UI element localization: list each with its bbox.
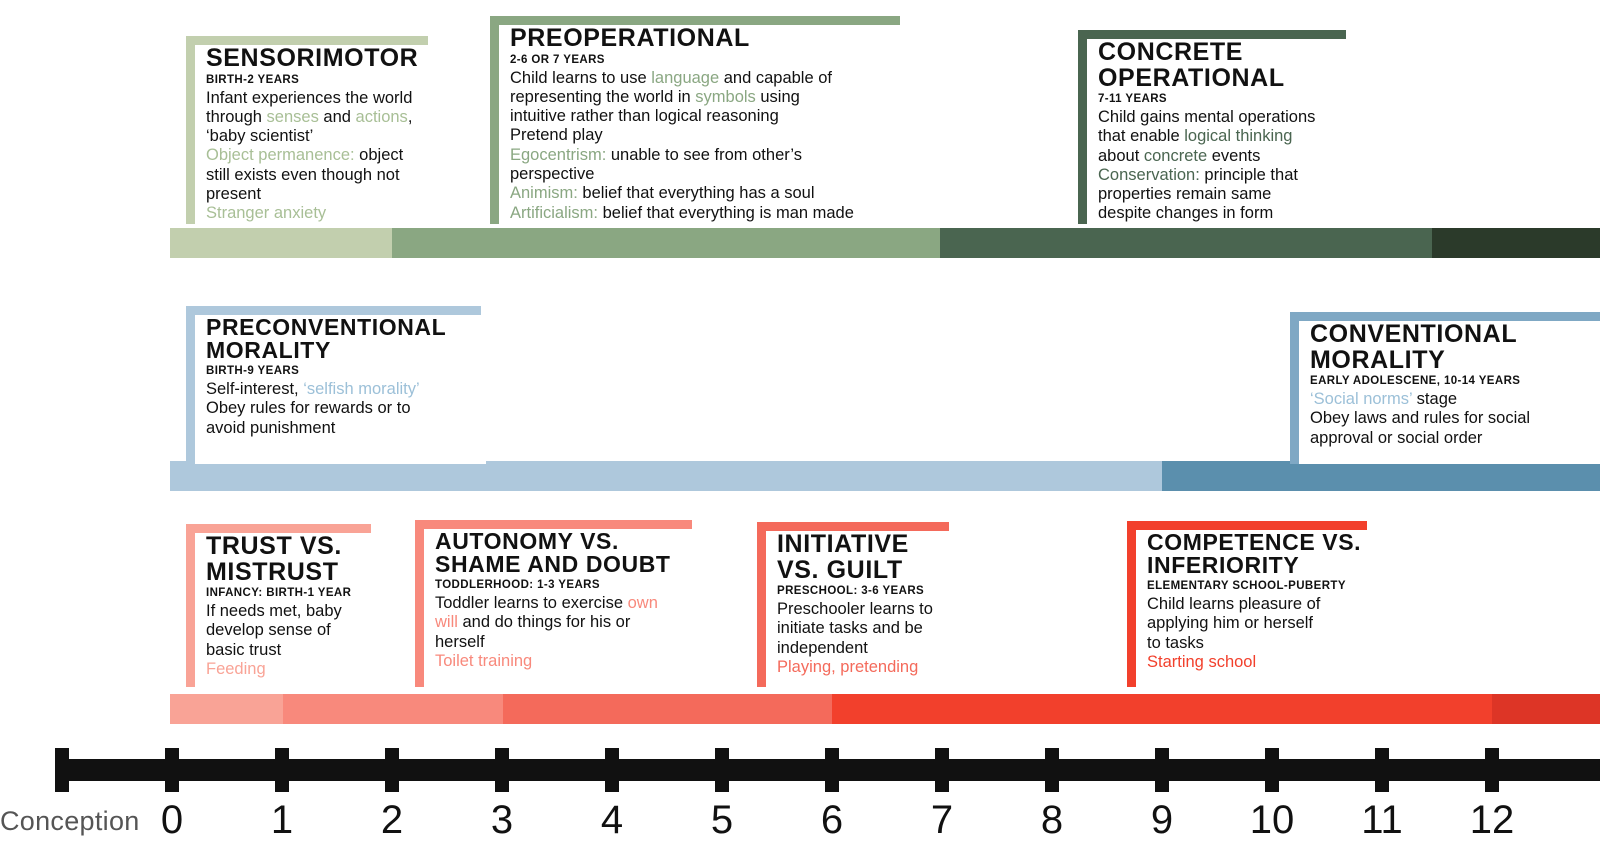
card-age-range: PRESCHOOL: 3-6 YEARS xyxy=(777,585,952,597)
text-segment: , xyxy=(408,108,413,126)
infographic-canvas: SENSORIMOTORBIRTH-2 YEARSInfant experien… xyxy=(0,0,1600,860)
card-description-line: Obey rules for rewards or to xyxy=(206,399,486,418)
text-segment: to tasks xyxy=(1147,634,1204,652)
card-description-line: present xyxy=(206,185,448,204)
card-concrete-operational[interactable]: CONCRETE OPERATIONAL7-11 YEARSChild gain… xyxy=(1078,30,1375,224)
axis-tick-2 xyxy=(385,748,399,792)
card-description-line: Feeding xyxy=(206,660,386,679)
text-segment: actions xyxy=(356,108,408,126)
text-segment: Obey laws and rules for social xyxy=(1310,409,1530,427)
card-description-line: intuitive rather than logical reasoning xyxy=(510,107,915,126)
text-segment: initiate tasks and be xyxy=(777,619,923,637)
identity-band xyxy=(1492,694,1600,724)
text-segment: still exists even though not xyxy=(206,166,400,184)
card-description-line: Toilet training xyxy=(435,652,700,671)
card-autonomy-vs-shame-and-doubt[interactable]: AUTONOMY VS. SHAME AND DOUBTTODDLERHOOD:… xyxy=(415,520,700,687)
card-age-range: 7-11 YEARS xyxy=(1098,93,1375,105)
axis-tick-label-6: 6 xyxy=(792,798,872,843)
text-segment: present xyxy=(206,185,261,203)
card-preoperational[interactable]: PREOPERATIONAL2-6 OR 7 YEARSChild learns… xyxy=(490,16,915,224)
card-description-line: If needs met, baby xyxy=(206,602,386,621)
card-body: AUTONOMY VS. SHAME AND DOUBTTODDLERHOOD:… xyxy=(415,520,700,671)
card-body: INITIATIVE VS. GUILTPRESCHOOL: 3-6 YEARS… xyxy=(757,522,952,677)
card-body: SENSORIMOTORBIRTH-2 YEARSInfant experien… xyxy=(186,36,448,224)
card-description-line: Conservation: principle that xyxy=(1098,166,1375,185)
text-segment: through xyxy=(206,108,267,126)
card-description-line: still exists even though not xyxy=(206,166,448,185)
card-description: If needs met, babydevelop sense ofbasic … xyxy=(206,602,386,679)
preconventional-band xyxy=(170,461,1162,491)
axis-tick-1 xyxy=(275,748,289,792)
text-segment: logical thinking xyxy=(1184,127,1292,145)
card-competence-vs-inferiority[interactable]: COMPETENCE VS. INFERIORITYELEMENTARY SCH… xyxy=(1127,521,1377,687)
axis-tick-label-7: 7 xyxy=(902,798,982,843)
card-description-line: approval or social order xyxy=(1310,429,1600,448)
card-description-line: properties remain same xyxy=(1098,185,1375,204)
card-description-line: about concrete events xyxy=(1098,147,1375,166)
text-segment: ‘Social norms’ xyxy=(1310,390,1412,408)
text-segment: Artificialism: xyxy=(510,204,598,222)
axis-tick-3 xyxy=(495,748,509,792)
card-description-line: ‘baby scientist’ xyxy=(206,127,448,146)
axis-tick-label-11: 11 xyxy=(1342,798,1422,843)
text-segment: using xyxy=(756,88,800,106)
card-description-line: to tasks xyxy=(1147,634,1377,653)
card-description-line: Obey laws and rules for social xyxy=(1310,409,1600,428)
axis-tick-5 xyxy=(715,748,729,792)
card-description: Toddler learns to exercise ownwill and d… xyxy=(435,594,700,671)
card-description-line: representing the world in symbols using xyxy=(510,88,915,107)
text-segment: about xyxy=(1098,147,1144,165)
text-segment: Child learns pleasure of xyxy=(1147,595,1320,613)
text-segment: Toddler learns to exercise xyxy=(435,594,628,612)
card-description-line: ‘Social norms’ stage xyxy=(1310,390,1600,409)
text-segment: ‘baby scientist’ xyxy=(206,127,313,145)
card-description-line: through senses and actions, xyxy=(206,108,448,127)
card-description-line: independent xyxy=(777,639,952,658)
axis-tick-4 xyxy=(605,748,619,792)
text-segment: own xyxy=(628,594,658,612)
card-description-line: develop sense of xyxy=(206,621,386,640)
card-description-line: Animism: belief that everything has a so… xyxy=(510,184,915,203)
text-segment: representing the world in xyxy=(510,88,695,106)
text-segment: unable to see from other’s xyxy=(606,146,802,164)
text-segment: and xyxy=(319,108,356,126)
card-description: Self-interest, ‘selfish morality’Obey ru… xyxy=(206,380,486,438)
axis-tick-label-2: 2 xyxy=(352,798,432,843)
card-description: Infant experiences the worldthrough sens… xyxy=(206,89,448,224)
card-age-range: INFANCY: BIRTH-1 YEAR xyxy=(206,587,386,599)
text-segment: belief that everything has a soul xyxy=(578,184,815,202)
autonomy-band xyxy=(283,694,503,724)
card-description: Child gains mental operationsthat enable… xyxy=(1098,108,1375,224)
text-segment: and capable of xyxy=(719,69,832,87)
card-age-range: EARLY ADOLESCENE, 10-14 YEARS xyxy=(1310,375,1600,387)
text-segment: Conservation: xyxy=(1098,166,1200,184)
card-description-line: Child learns to use language and capable… xyxy=(510,69,915,88)
text-segment: symbols xyxy=(695,88,756,106)
text-segment: Stranger anxiety xyxy=(206,204,326,222)
text-segment: Toilet training xyxy=(435,652,532,670)
card-title: SENSORIMOTOR xyxy=(206,46,448,72)
card-description-line: Stranger anxiety xyxy=(206,204,448,223)
axis-tick-0 xyxy=(165,748,179,792)
card-sensorimotor[interactable]: SENSORIMOTORBIRTH-2 YEARSInfant experien… xyxy=(186,36,448,224)
sensorimotor-band xyxy=(170,228,392,258)
card-age-range: 2-6 OR 7 YEARS xyxy=(510,54,915,66)
card-description-line: basic trust xyxy=(206,641,386,660)
axis-tick-label-5: 5 xyxy=(682,798,762,843)
card-description: Child learns to use language and capable… xyxy=(510,69,915,223)
card-description: Child learns pleasure ofapplying him or … xyxy=(1147,595,1377,672)
card-description-line: Object permanence: object xyxy=(206,146,448,165)
text-segment: basic trust xyxy=(206,641,281,659)
axis-tick-label-1: 1 xyxy=(242,798,322,843)
card-description-line: despite changes in form xyxy=(1098,204,1375,223)
card-title: COMPETENCE VS. INFERIORITY xyxy=(1147,531,1377,578)
competence-band xyxy=(832,694,1492,724)
axis-tick-label-12: 12 xyxy=(1452,798,1532,843)
text-segment: Object permanence: xyxy=(206,146,355,164)
text-segment: Obey rules for rewards or to xyxy=(206,399,411,417)
axis-tick-label-8: 8 xyxy=(1012,798,1092,843)
card-age-range: BIRTH-2 YEARS xyxy=(206,74,448,86)
text-segment: Infant experiences the world xyxy=(206,89,412,107)
card-body: TRUST VS. MISTRUSTINFANCY: BIRTH-1 YEARI… xyxy=(186,524,386,679)
text-segment: that enable xyxy=(1098,127,1184,145)
text-segment: and do things for his or xyxy=(458,613,630,631)
text-segment: avoid punishment xyxy=(206,419,335,437)
card-description-line: Child learns pleasure of xyxy=(1147,595,1377,614)
card-body: CONVENTIONAL MORALITYEARLY ADOLESCENE, 1… xyxy=(1290,312,1600,448)
card-description-line: applying him or herself xyxy=(1147,614,1377,633)
text-segment: Playing, pretending xyxy=(777,658,918,676)
text-segment: Feeding xyxy=(206,660,266,678)
text-segment: ‘selfish morality’ xyxy=(303,380,419,398)
text-segment: language xyxy=(651,69,719,87)
card-description-line: that enable logical thinking xyxy=(1098,127,1375,146)
card-title: CONCRETE OPERATIONAL xyxy=(1098,40,1375,91)
text-segment: approval or social order xyxy=(1310,429,1482,447)
text-segment: Egocentrism: xyxy=(510,146,606,164)
axis-tick-11 xyxy=(1375,748,1389,792)
card-description-line: Playing, pretending xyxy=(777,658,952,677)
axis-tick-label-9: 9 xyxy=(1122,798,1202,843)
card-description-line: Self-interest, ‘selfish morality’ xyxy=(206,380,486,399)
card-trust-vs-mistrust[interactable]: TRUST VS. MISTRUSTINFANCY: BIRTH-1 YEARI… xyxy=(186,524,386,687)
card-title: PRECONVENTIONAL MORALITY xyxy=(206,316,486,363)
concrete-operational-band xyxy=(940,228,1432,258)
axis-tick-8 xyxy=(1045,748,1059,792)
text-segment: stage xyxy=(1412,390,1457,408)
card-description-line: will and do things for his or xyxy=(435,613,700,632)
card-description-line: perspective xyxy=(510,165,915,184)
card-title: CONVENTIONAL MORALITY xyxy=(1310,322,1600,373)
card-age-range: BIRTH-9 YEARS xyxy=(206,365,486,377)
card-title: AUTONOMY VS. SHAME AND DOUBT xyxy=(435,530,700,577)
text-segment: concrete xyxy=(1144,147,1207,165)
card-body: COMPETENCE VS. INFERIORITYELEMENTARY SCH… xyxy=(1127,521,1377,672)
text-segment: Preschooler learns to xyxy=(777,600,933,618)
card-title: TRUST VS. MISTRUST xyxy=(206,534,386,585)
card-description-line: Toddler learns to exercise own xyxy=(435,594,700,613)
card-initiative-vs-guilt[interactable]: INITIATIVE VS. GUILTPRESCHOOL: 3-6 YEARS… xyxy=(757,522,952,687)
card-description-line: Infant experiences the world xyxy=(206,89,448,108)
card-title: PREOPERATIONAL xyxy=(510,26,915,52)
card-description-line: Artificialism: belief that everything is… xyxy=(510,204,915,223)
card-description-line: Child gains mental operations xyxy=(1098,108,1375,127)
axis-tick-6 xyxy=(825,748,839,792)
card-age-range: ELEMENTARY SCHOOL-PUBERTY xyxy=(1147,580,1377,592)
text-segment: properties remain same xyxy=(1098,185,1271,203)
text-segment: applying him or herself xyxy=(1147,614,1313,632)
card-description: Preschooler learns toinitiate tasks and … xyxy=(777,600,952,677)
text-segment: Animism: xyxy=(510,184,578,202)
card-body: PRECONVENTIONAL MORALITYBIRTH-9 YEARSSel… xyxy=(186,306,486,438)
text-segment: develop sense of xyxy=(206,621,331,639)
text-segment: despite changes in form xyxy=(1098,204,1273,222)
card-body: CONCRETE OPERATIONAL7-11 YEARSChild gain… xyxy=(1078,30,1375,224)
text-segment: will xyxy=(435,613,458,631)
text-segment: events xyxy=(1207,147,1260,165)
card-description-line: Egocentrism: unable to see from other’s xyxy=(510,146,915,165)
trust-band xyxy=(170,694,283,724)
text-segment: herself xyxy=(435,633,485,651)
card-description-line: initiate tasks and be xyxy=(777,619,952,638)
card-description-line: Pretend play xyxy=(510,126,915,145)
card-description-line: avoid punishment xyxy=(206,419,486,438)
text-segment: intuitive rather than logical reasoning xyxy=(510,107,779,125)
text-segment: If needs met, baby xyxy=(206,602,342,620)
axis-tick-label-4: 4 xyxy=(572,798,652,843)
text-segment: object xyxy=(355,146,404,164)
card-preconventional-morality[interactable]: PRECONVENTIONAL MORALITYBIRTH-9 YEARSSel… xyxy=(186,306,486,464)
axis-tick-label-3: 3 xyxy=(462,798,542,843)
card-description-line: herself xyxy=(435,633,700,652)
conventional-band xyxy=(1162,461,1600,491)
card-title: INITIATIVE VS. GUILT xyxy=(777,532,952,583)
formal-operational-band xyxy=(1432,228,1600,258)
card-description-line: Starting school xyxy=(1147,653,1377,672)
initiative-band xyxy=(503,694,832,724)
text-segment: Child gains mental operations xyxy=(1098,108,1315,126)
text-segment: perspective xyxy=(510,165,594,183)
card-conventional-morality[interactable]: CONVENTIONAL MORALITYEARLY ADOLESCENE, 1… xyxy=(1290,312,1600,464)
text-segment: Pretend play xyxy=(510,126,603,144)
axis-tick-label-0: 0 xyxy=(132,798,212,843)
text-segment: independent xyxy=(777,639,868,657)
text-segment: Child learns to use xyxy=(510,69,651,87)
card-body: PREOPERATIONAL2-6 OR 7 YEARSChild learns… xyxy=(490,16,915,223)
card-description-line: Preschooler learns to xyxy=(777,600,952,619)
axis-tick-label-10: 10 xyxy=(1232,798,1312,843)
text-segment: senses xyxy=(267,108,319,126)
axis-tick-conception xyxy=(55,748,69,792)
card-age-range: TODDLERHOOD: 1-3 YEARS xyxy=(435,579,700,591)
text-segment: Starting school xyxy=(1147,653,1256,671)
text-segment: Self-interest, xyxy=(206,380,303,398)
axis-tick-12 xyxy=(1485,748,1499,792)
axis-tick-9 xyxy=(1155,748,1169,792)
axis-tick-10 xyxy=(1265,748,1279,792)
axis-tick-7 xyxy=(935,748,949,792)
card-description: ‘Social norms’ stageObey laws and rules … xyxy=(1310,390,1600,448)
axis-label-conception: Conception xyxy=(0,806,140,837)
preoperational-band xyxy=(392,228,940,258)
text-segment: principle that xyxy=(1200,166,1298,184)
text-segment: belief that everything is man made xyxy=(598,204,854,222)
